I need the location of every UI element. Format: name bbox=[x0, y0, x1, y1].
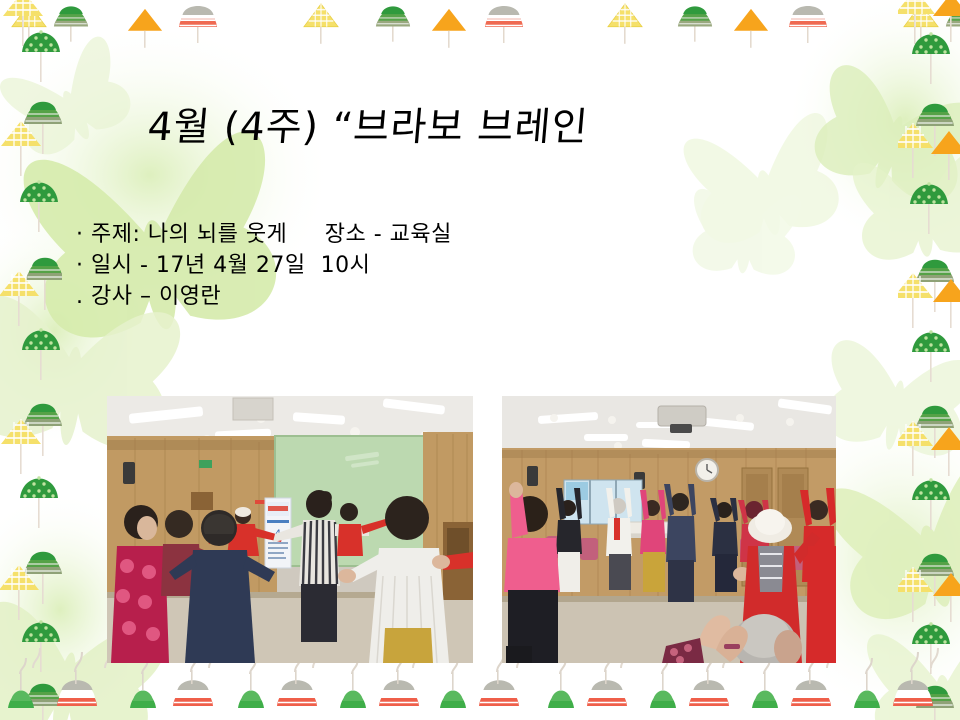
activity-photo-right bbox=[502, 396, 836, 663]
photo-left-illustration: 4 bbox=[107, 396, 473, 663]
list-item-instructor: . 강사 – 이영란 bbox=[76, 281, 452, 312]
photo-right-illustration bbox=[502, 396, 836, 663]
detail-list: · 주제: 나의 뇌를 웃게 장소 - 교육실 · 일시 - 17년 4월 27… bbox=[76, 219, 452, 312]
list-item-subject: · 주제: 나의 뇌를 웃게 장소 - 교육실 bbox=[76, 219, 452, 250]
page-title: 4월 (4주) “브라보 브레인 bbox=[146, 96, 591, 152]
slide-canvas: 4월 (4주) “브라보 브레인 · 주제: 나의 뇌를 웃게 장소 - 교육실… bbox=[0, 0, 960, 720]
list-item-datetime: · 일시 - 17년 4월 27일 10시 bbox=[76, 250, 452, 281]
activity-photo-left: 4 bbox=[107, 396, 473, 663]
